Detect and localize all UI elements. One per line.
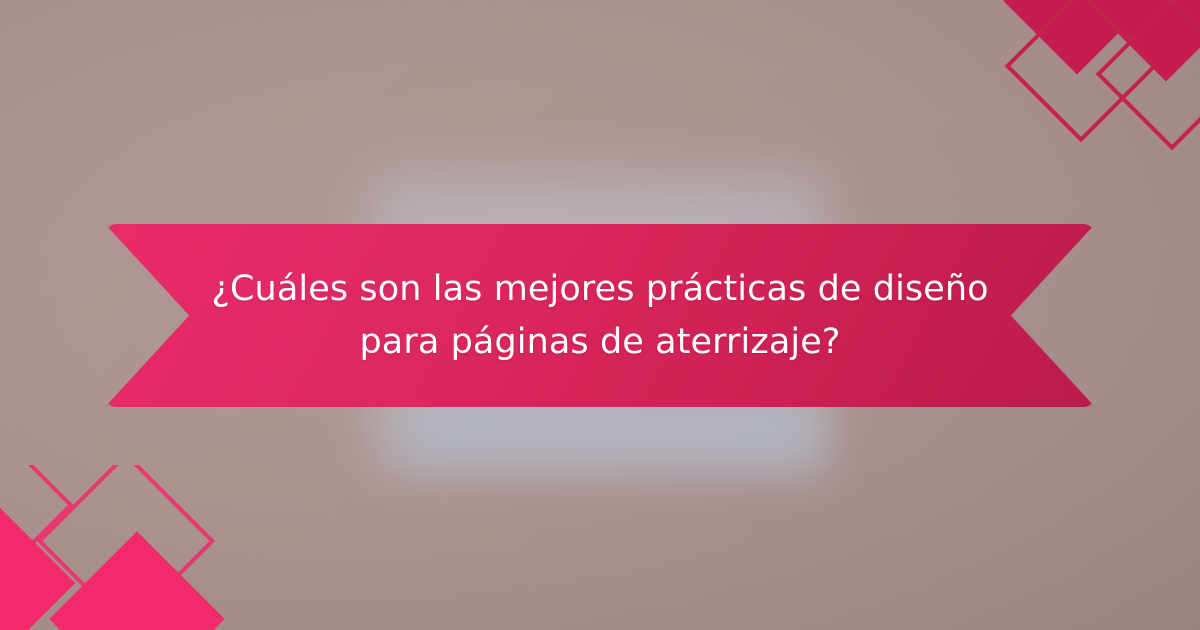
heading-line-1: ¿Cuáles son las mejores prácticas de dis… [211,263,988,316]
heading-line-2: para páginas de aterrizaje? [359,316,840,369]
banner-heading: ¿Cuáles son las mejores prácticas de dis… [225,224,975,407]
ribbon-banner: ¿Cuáles son las mejores prácticas de dis… [105,224,1095,407]
poster-canvas: ¿Cuáles son las mejores prácticas de dis… [0,0,1200,630]
